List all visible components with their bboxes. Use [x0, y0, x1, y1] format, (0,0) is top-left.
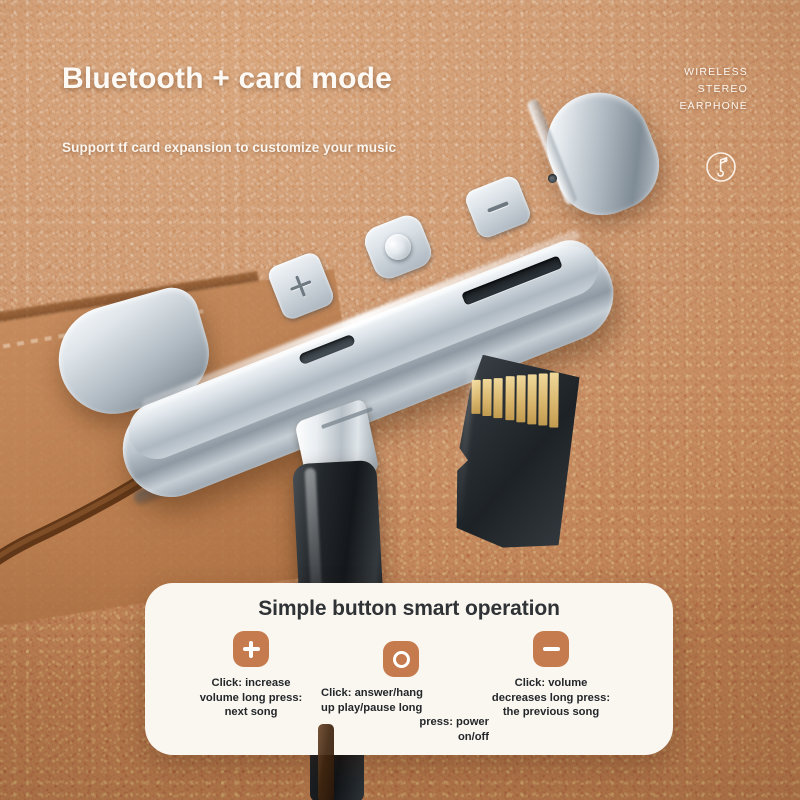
caption-line: the previous song [503, 706, 599, 718]
microsd-contact-pads [471, 366, 564, 425]
wireless-neckband-earphone [30, 78, 680, 418]
caption-line: next song [225, 706, 278, 718]
caption-line: Click: volume [515, 677, 588, 689]
caption-line: on/off [458, 731, 489, 743]
caption-line: decreases long press: [492, 692, 610, 704]
feature-volume-down-caption: Click: volume decreases long press: the … [463, 676, 639, 720]
microsd-contact-pad [483, 379, 492, 416]
info-card-title: Simple button smart operation [145, 597, 673, 621]
microsd-contact-pad [516, 375, 525, 421]
volume-down-physical-button[interactable] [463, 173, 533, 240]
microsd-tf-card [443, 353, 581, 554]
feature-info-card: Simple button smart operation Click: inc… [145, 583, 673, 755]
microsd-contact-pad [527, 374, 536, 424]
microsd-contact-pad [550, 372, 559, 428]
multifunction-physical-button[interactable] [360, 211, 436, 283]
music-note-circle-icon [700, 146, 742, 188]
multifunction-knob [381, 230, 415, 264]
caption-line: volume long press: [200, 692, 303, 704]
caption-line: Click: increase [212, 677, 291, 689]
microsd-contact-pad [494, 378, 503, 418]
plus-icon [233, 631, 269, 667]
microsd-contact-pad [538, 373, 547, 426]
feature-volume-down: Click: volume decreases long press: the … [463, 631, 639, 720]
circle-icon [383, 641, 419, 677]
product-marketing-image: Bluetooth + card mode Support tf card ex… [0, 0, 800, 800]
microsd-contact-pad [505, 377, 514, 420]
volume-up-physical-button[interactable] [266, 250, 337, 322]
minus-icon [533, 631, 569, 667]
